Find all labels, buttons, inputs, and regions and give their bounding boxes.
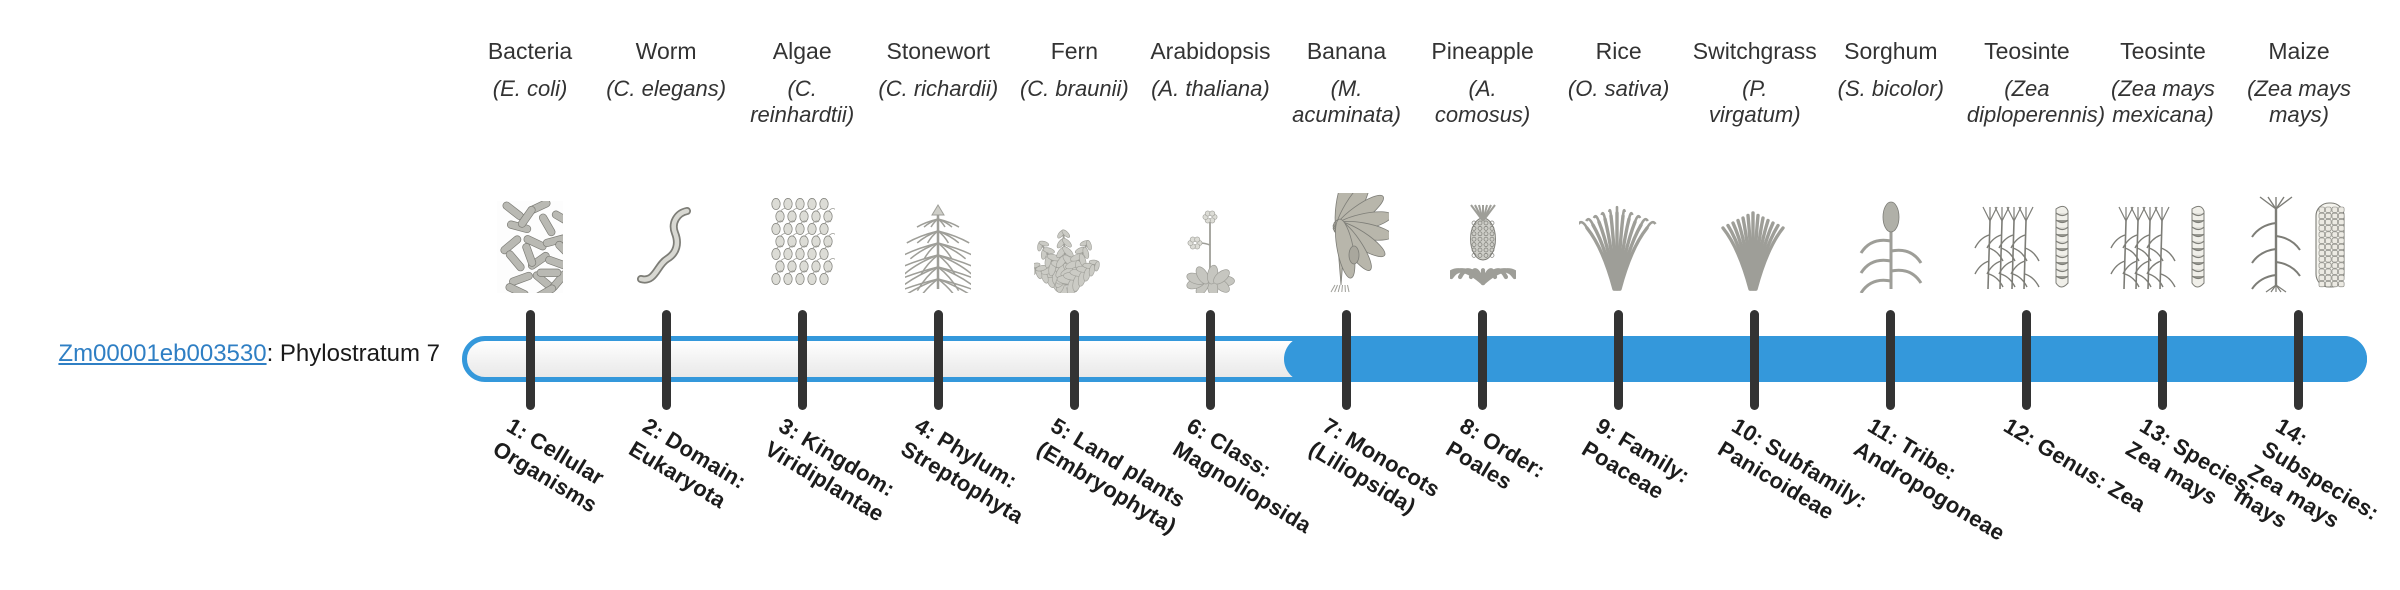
species-common-name: Worm [636,38,697,64]
rank-label: 14: Subspecies: Zea mays mays [2229,412,2400,590]
rice-icon [1554,168,1684,293]
teosinte-icon [2098,168,2228,293]
gene-phylostratum-label: Zm00001eb003530: Phylostratum 7 [40,340,440,368]
species-common-name: Arabidopsis [1150,38,1270,64]
teosinte-icon [1962,168,2092,293]
rank-label: 10: Subfamily: Panicoideae [1713,412,1882,543]
taxonomy-rank-labels: 1: Cellular Organisms2: Domain: Eukaryot… [462,412,2367,580]
arabidopsis-icon [1145,168,1275,293]
species-scientific-name: (P. virgatum) [1695,76,1815,128]
rank-label: 2: Domain: Eukaryota [624,412,793,543]
phylostratum-value-text: Phylostratum 7 [280,340,440,367]
species-column: Banana(M. acuminata) [1278,0,1414,128]
sorghum-icon [1826,168,1956,293]
species-column: Maize(Zea mays mays) [2231,0,2367,128]
maize-icon [2234,168,2364,293]
species-scientific-name: (C. reinhardtii) [742,76,862,128]
species-scientific-name: (A. thaliana) [1151,76,1270,102]
species-column: Teosinte(Zea diploperennis) [1959,0,2095,128]
species-scientific-name: (O. sativa) [1568,76,1669,102]
bacteria-icon [465,168,595,293]
species-column: Stonewort(C. richardii) [870,0,1006,102]
species-column: Arabidopsis(A. thaliana) [1142,0,1278,102]
species-column: Algae(C. reinhardtii) [734,0,870,128]
species-common-name: Fern [1051,38,1098,64]
stonewort-icon [873,168,1003,293]
species-common-name: Rice [1596,38,1642,64]
rank-label: 6: Class: Magnoliopsida [1169,412,1338,543]
species-column: Bacteria(E. coli) [462,0,598,102]
banana-icon [1282,168,1412,293]
timeline-fill [1284,336,2367,382]
algae-icon [737,168,867,293]
switchgrass-icon [1690,168,1820,293]
species-scientific-name: (Zea diploperennis) [1967,76,2087,128]
species-common-name: Switchgrass [1693,38,1817,64]
rank-label: 12: Genus: Zea [1999,412,2154,520]
species-scientific-name: (M. acuminata) [1287,76,1407,128]
species-common-name: Algae [773,38,832,64]
species-scientific-name: (C. richardii) [878,76,998,102]
pineapple-icon [1418,168,1548,293]
species-common-name: Teosinte [2120,38,2206,64]
rank-label: 7: Monocots (Liliopsida) [1305,412,1474,543]
species-scientific-name: (S. bicolor) [1838,76,1944,102]
species-column: Rice(O. sativa) [1551,0,1687,102]
species-common-name: Bacteria [488,38,572,64]
rank-label: 1: Cellular Organisms [488,412,657,543]
species-column: Fern(C. braunii) [1006,0,1142,102]
species-common-name: Teosinte [1984,38,2070,64]
species-scientific-name: (C. braunii) [1020,76,1129,102]
species-scientific-name: (C. elegans) [606,76,726,102]
species-column: Switchgrass(P. virgatum) [1687,0,1823,128]
phylostratum-figure: Zm00001eb003530: Phylostratum 7 Bacteria… [0,0,2400,580]
species-common-name: Maize [2268,38,2329,64]
species-column: Pineapple(A. comosus) [1415,0,1551,128]
rank-label: 8: Order: Poales [1441,412,1610,543]
rank-label: 11: Tribe: Andropogoneae [1849,412,2018,543]
rank-label: 5: Land plants (Embryophyta) [1033,412,1202,543]
species-scientific-name: (Zea mays mays) [2239,76,2359,128]
species-scientific-name: (Zea mays mexicana) [2103,76,2223,128]
gene-label-separator: : [267,340,280,367]
species-scientific-name: (A. comosus) [1423,76,1543,128]
species-common-name: Stonewort [886,38,990,64]
species-common-name: Pineapple [1431,38,1533,64]
species-common-name: Banana [1307,38,1386,64]
species-column: Teosinte(Zea mays mexicana) [2095,0,2231,128]
species-columns: Bacteria(E. coli)Worm(C. elegans)Algae(C… [462,0,2367,310]
fern-icon [1009,168,1139,293]
phylostratum-timeline[interactable] [462,336,2367,382]
rank-label: 3: Kingdom: Viridiplantae [760,412,929,543]
rank-label: 9: Family: Poaceae [1577,412,1746,543]
species-common-name: Sorghum [1844,38,1937,64]
species-column: Sorghum(S. bicolor) [1823,0,1959,102]
species-scientific-name: (E. coli) [493,76,568,102]
rank-label: 4: Phylum: Streptophyta [896,412,1065,543]
worm-icon [601,168,731,293]
species-column: Worm(C. elegans) [598,0,734,102]
gene-id-link[interactable]: Zm00001eb003530 [58,340,266,367]
